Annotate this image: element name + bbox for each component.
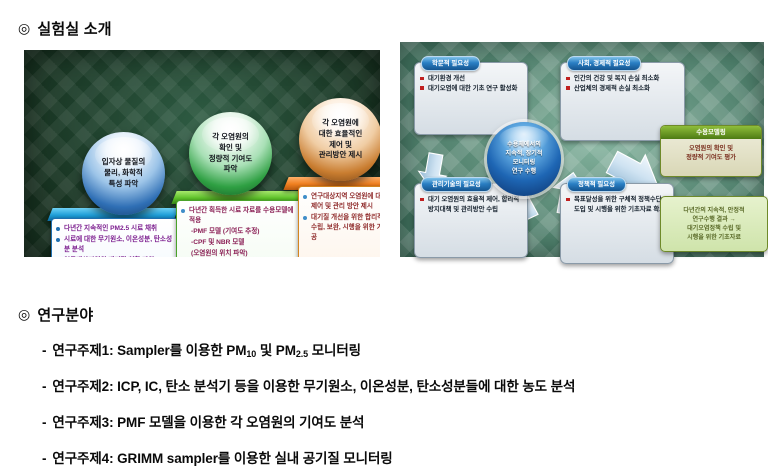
core-line: 지속적, 장기적 [505, 150, 542, 157]
bullet-dot-icon [56, 238, 60, 242]
need-box-policy: 정책적 필요성 목표달성을 위한 구체적 정책수단 도입 및 시행을 위한 기초… [560, 183, 674, 264]
need-item: 산업체의 경제적 손실 최소화 [566, 84, 680, 94]
need-caption-social-economic: 사회, 경제적 필요성 [567, 56, 641, 71]
core-line: 모니터링 [513, 159, 535, 166]
topic-subscript-pm25: 2.5 [296, 349, 308, 359]
core-line: 수용체에서의 [507, 141, 541, 148]
topic-dash: - [42, 415, 46, 430]
square-bullet-icon [420, 77, 424, 81]
result-box-receptor-modeling: 수용모델링 오염원의 확인 및 정량적 기여도 평가 [660, 125, 762, 177]
card-bullet-text: 다년간 지속적인 PM2.5 시료 채취 [64, 225, 157, 232]
need-caption-policy: 정책적 필요성 [567, 177, 626, 192]
card-bullet-item: 시료에 대한 무기원소, 이온성분, 탄소성분 분석 [56, 235, 174, 255]
card-bullet-item: 연구대상지역 오염원에 대한 효율적 제어 및 관리 방안 제시 [303, 192, 380, 212]
topic-dash: - [42, 379, 46, 394]
sphere-line: 관리방안 제시 [319, 150, 362, 159]
sphere-line: 정량적 기여도 [209, 154, 252, 163]
bullet-dot-icon [56, 227, 60, 231]
square-bullet-icon [420, 198, 424, 202]
need-item: 대기 오염원의 효율적 제어, 합리적 방지대책 및 관리방안 수립 [420, 195, 523, 215]
topic-text-suffix: 모니터링 [308, 343, 361, 358]
square-bullet-icon [420, 86, 424, 90]
card-bullet-text: 다년간 획득한 시료 자료를 수용모델에 적용 [189, 207, 293, 224]
card-bullet-item: 다년간 지속적인 PM2.5 시료 채취 [56, 224, 174, 234]
goal-sphere-green: 각 오염원의 확인 및 정량적 기여도 파악 [189, 112, 272, 195]
card-bullet-text: 시료에 대한 무기원소, 이온성분, 탄소성분 분석 [64, 236, 172, 253]
result-body-receptor-modeling: 오염원의 확인 및 정량적 기여도 평가 [661, 139, 761, 168]
result-line: 대기오염정책 수립 및 [687, 225, 741, 232]
square-bullet-icon [566, 77, 570, 81]
sphere-line: 각 오염원의 [212, 132, 249, 141]
card-bullet-item: 다년간 획득한 시료 자료를 수용모델에 적용 [181, 206, 299, 226]
sphere-line: 제어 및 [329, 140, 352, 149]
card-bullet-text: 연구대상지역 오염원에 대한 효율적 제어 및 관리 방안 제시 [311, 193, 380, 210]
bullet-dot-icon [181, 209, 185, 213]
need-item-text: 대기환경 개선 [428, 75, 465, 82]
detail-card-green: 다년간 획득한 시료 자료를 수용모델에 적용 -PMF 모델 (기여도 추정)… [176, 200, 304, 257]
topic-text: 연구주제3: PMF 모델을 이용한 각 오염원의 기여도 분석 [52, 415, 364, 430]
card-sub-text: (오염원의 위치 파악) [191, 250, 248, 257]
topic-dash: - [42, 343, 46, 358]
topic-text: 연구주제4: GRIMM sampler를 이용한 실내 공기질 모니터링 [52, 451, 392, 466]
card-bullet-item: 대기질 개선을 위한 합리적 정책의 수립, 보완, 시행을 위한 기초자료 제… [303, 213, 380, 243]
square-bullet-icon [566, 86, 570, 90]
need-item-text: 인간의 건강 및 복지 손실 최소화 [574, 75, 659, 82]
need-box-management-tech: 관리기술의 필요성 대기 오염원의 효율적 제어, 합리적 방지대책 및 관리방… [414, 183, 528, 258]
topic-text: 연구주제2: ICP, IC, 탄소 분석기 등을 이용한 무기원소, 이온성분… [52, 379, 575, 394]
section-title-research-field: 연구분야 [37, 307, 93, 324]
square-bullet-icon [566, 198, 570, 202]
sphere-line: 물리, 화학적 [104, 168, 143, 177]
need-item-text: 대기 오염원의 효율적 제어, 합리적 방지대책 및 관리방안 수립 [428, 196, 519, 213]
need-item-text: 대기오염에 대한 기초 연구 활성화 [428, 85, 517, 92]
sphere-line: 확인 및 [219, 143, 242, 152]
sphere-line: 각 오염원에 [322, 118, 359, 127]
card-sub-text: -PMF 모델 (기여도 추정) [191, 228, 259, 235]
core-sphere-monitoring: 수용체에서의 지속적, 장기적 모니터링 연구 수행 [487, 122, 561, 196]
result-body-policy-basis: 다년간의 지속적, 안정적 연구수행 결과 → 대기오염정책 수립 및 시행을 … [683, 206, 744, 243]
section-heading-research-field: ◎연구분야 [18, 304, 93, 325]
bullet-dot-icon [303, 216, 307, 220]
result-line: 다년간의 지속적, 안정적 [683, 207, 744, 214]
diamond-bullet-icon: ◎ [18, 306, 30, 323]
section-heading-lab-intro: ◎실험실 소개 [18, 18, 112, 39]
research-topic-1: -연구주제1: Sampler를 이용한 PM10 및 PM2.5 모니터링 [42, 339, 361, 359]
goal-sphere-blue: 입자상 물질의 물리, 화학적 특성 파악 [82, 132, 165, 215]
section-title-lab-intro: 실험실 소개 [37, 21, 111, 38]
result-line: 연구수행 결과 → [692, 216, 735, 223]
goal-sphere-orange: 각 오염원에 대한 효율적인 제어 및 관리방안 제시 [299, 98, 380, 181]
need-caption-academic: 학문적 필요성 [421, 56, 480, 71]
need-item: 대기오염에 대한 기초 연구 활성화 [420, 84, 523, 94]
bullet-dot-icon [303, 195, 307, 199]
sphere-line: 특성 파악 [109, 179, 139, 188]
result-line: 정량적 기여도 평가 [686, 154, 736, 161]
card-sub-item: -PMF 모델 (기여도 추정) [181, 227, 299, 237]
result-line: 시행을 위한 기초자료 [687, 234, 741, 241]
need-caption-management-tech: 관리기술의 필요성 [421, 177, 492, 192]
card-sub-item: -CPF 및 NBR 모델 [181, 238, 299, 248]
card-sub-text: -CPF 및 NBR 모델 [191, 239, 244, 246]
card-bullet-item: 연구대상지역의 대기질 현황 파악 [56, 256, 174, 257]
topic-text-mid: 및 PM [256, 343, 296, 358]
research-topic-3: -연구주제3: PMF 모델을 이용한 각 오염원의 기여도 분석 [42, 411, 364, 431]
need-item-text: 목표달성을 위한 구체적 정책수단 도입 및 시행을 위한 기초자료 확보 [574, 196, 665, 213]
sphere-line: 입자상 물질의 [102, 157, 145, 166]
diamond-bullet-icon: ◎ [18, 20, 30, 37]
result-line: 오염원의 확인 및 [689, 145, 733, 152]
result-caption-receptor-modeling: 수용모델링 [661, 126, 761, 139]
sphere-line: 대한 효율적인 [319, 129, 362, 138]
detail-card-blue: 다년간 지속적인 PM2.5 시료 채취 시료에 대한 무기원소, 이온성분, … [51, 218, 179, 257]
card-sub-item: (오염원의 위치 파악) [181, 249, 299, 257]
topic-dash: - [42, 451, 46, 466]
research-topic-2: -연구주제2: ICP, IC, 탄소 분석기 등을 이용한 무기원소, 이온성… [42, 375, 575, 395]
left-research-flow-figure: 입자상 물질의 물리, 화학적 특성 파악 각 오염원의 확인 및 정량적 기여… [24, 50, 380, 257]
detail-card-orange: 연구대상지역 오염원에 대한 효율적 제어 및 관리 방안 제시 대기질 개선을… [298, 186, 380, 257]
need-item: 목표달성을 위한 구체적 정책수단 도입 및 시행을 위한 기초자료 확보 [566, 195, 669, 215]
sphere-line: 파악 [224, 164, 238, 173]
core-line: 연구 수행 [512, 168, 536, 175]
topic-subscript-pm10: 10 [246, 349, 256, 359]
need-item: 대기환경 개선 [420, 74, 523, 84]
topic-text: 연구주제1: Sampler를 이용한 PM [52, 343, 246, 358]
need-item: 인간의 건강 및 복지 손실 최소화 [566, 74, 680, 84]
research-topic-4: -연구주제4: GRIMM sampler를 이용한 실내 공기질 모니터링 [42, 447, 393, 467]
card-bullet-text: 대기질 개선을 위한 합리적 정책의 수립, 보완, 시행을 위한 기초자료 제… [311, 214, 380, 241]
need-item-text: 산업체의 경제적 손실 최소화 [574, 85, 650, 92]
result-box-policy-basis: 다년간의 지속적, 안정적 연구수행 결과 → 대기오염정책 수립 및 시행을 … [660, 196, 768, 252]
